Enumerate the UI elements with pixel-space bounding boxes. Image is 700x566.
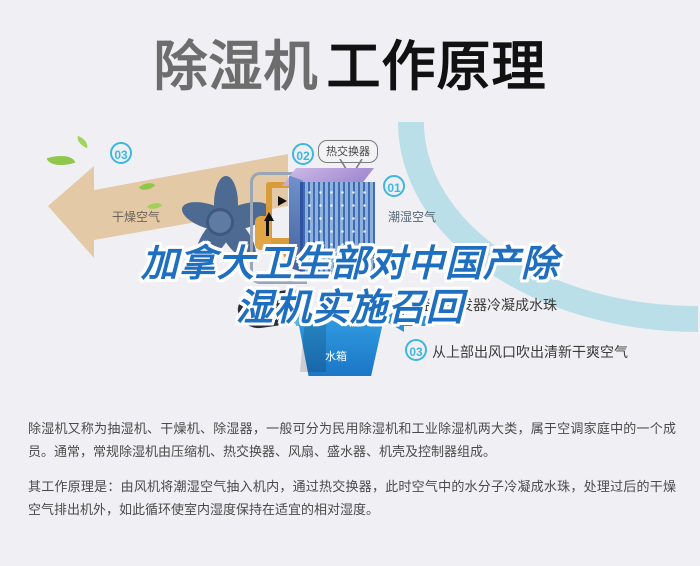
step-list-text-03: 从上部出风口吹出清新干爽空气 (432, 342, 628, 362)
humid-air-label: 潮湿空气 (388, 208, 436, 225)
flow-arrow-right-icon (278, 196, 287, 206)
page-title-gray-part: 除湿机 (154, 35, 319, 98)
step-badge-03: 03 (110, 142, 132, 164)
flow-arrow-shaft-icon (266, 220, 269, 236)
body-paragraph-1: 除湿机又称为抽湿机、干燥机、除湿器，一般可分为民用除湿机和工业除湿机两大类，属于… (28, 418, 676, 464)
page-root: 除湿机工作原理 03 02 01 干燥空气 潮湿空气 热交换器 (0, 0, 700, 566)
dry-air-label: 干燥空气 (112, 208, 160, 225)
article-body: 除湿机又称为抽湿机、干燥机、除湿器，一般可分为民用除湿机和工业除湿机两大类，属于… (28, 418, 676, 534)
step-badge-02: 02 (292, 143, 314, 165)
leaf-icon (75, 136, 90, 148)
condensation-droplets-icon (304, 186, 368, 270)
page-title-black-part: 工作原理 (327, 35, 547, 98)
flow-arrow-up-icon (264, 212, 274, 221)
step-list-text-02: 经过蒸发器冷凝成水珠 (417, 295, 557, 315)
page-title: 除湿机工作原理 (0, 22, 700, 101)
body-paragraph-2: 其工作原理是：由风机将潮湿空气抽入机内，通过热交换器，此时空气中的水分子冷凝成水… (28, 476, 676, 522)
dehumidifier-principle-diagram: 03 02 01 干燥空气 潮湿空气 热交换器 (0, 120, 700, 410)
water-tank-label: 水箱 (325, 348, 347, 364)
humid-air-arrow-tail-icon (400, 316, 428, 326)
step-badge-01: 01 (383, 175, 405, 197)
step-list-badge-02: 02 (390, 292, 412, 314)
step-list-badge-03: 03 (405, 339, 427, 361)
